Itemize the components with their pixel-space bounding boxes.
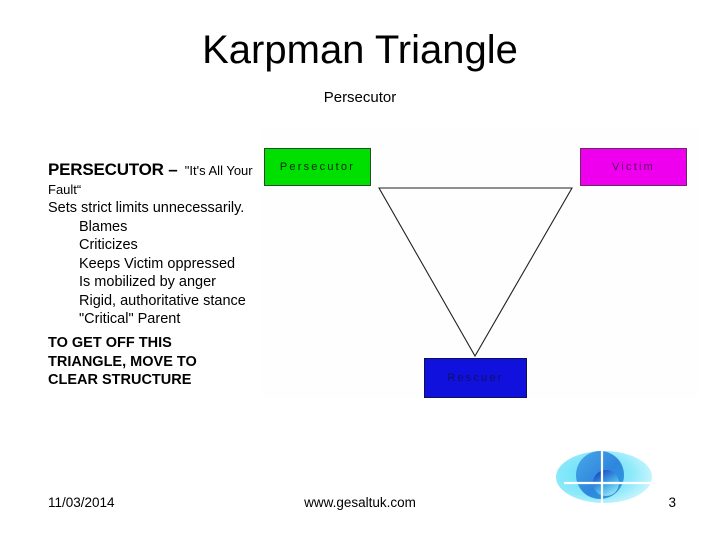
persecutor-traits-list: Blames Criticizes Keeps Victim oppressed… xyxy=(48,218,263,329)
list-item: Criticizes xyxy=(79,236,263,255)
list-item: Keeps Victim oppressed xyxy=(79,255,263,274)
node-persecutor-label: Persecutor xyxy=(280,161,355,173)
closing-statement: TO GET OFF THIS TRIANGLE, MOVE TO CLEAR … xyxy=(48,334,248,390)
lead-paragraph: PERSECUTOR – "It's All Your Fault“ xyxy=(48,161,263,199)
karpman-triangle-diagram: Persecutor Victim Rescuer xyxy=(262,127,698,398)
footer-page-number: 3 xyxy=(668,494,676,511)
page-title: Karpman Triangle xyxy=(0,26,720,74)
list-item: Is mobilized by anger xyxy=(79,273,263,292)
triangle-outline xyxy=(379,188,572,356)
persecutor-description: PERSECUTOR – "It's All Your Fault“ Sets … xyxy=(48,161,263,329)
node-victim-label: Victim xyxy=(612,161,655,173)
node-victim[interactable]: Victim xyxy=(580,148,687,186)
node-persecutor[interactable]: Persecutor xyxy=(264,148,371,186)
list-item: "Critical" Parent xyxy=(79,310,263,329)
gestalt-eye-logo xyxy=(548,443,664,515)
page-subtitle: Persecutor xyxy=(0,88,720,107)
lead-heading: PERSECUTOR xyxy=(48,160,164,179)
lead-quote xyxy=(178,163,185,178)
list-item: Blames xyxy=(79,218,263,237)
node-rescuer-label: Rescuer xyxy=(447,372,503,384)
list-item: Rigid, authoritative stance xyxy=(79,292,263,311)
slide-canvas: Karpman Triangle Persecutor PERSECUTOR –… xyxy=(0,0,720,540)
lead-dash-glyph: – xyxy=(168,160,177,179)
logo-svg xyxy=(548,443,664,515)
node-rescuer[interactable]: Rescuer xyxy=(424,358,527,398)
lead-line-2: Sets strict limits unnecessarily. xyxy=(48,199,263,218)
